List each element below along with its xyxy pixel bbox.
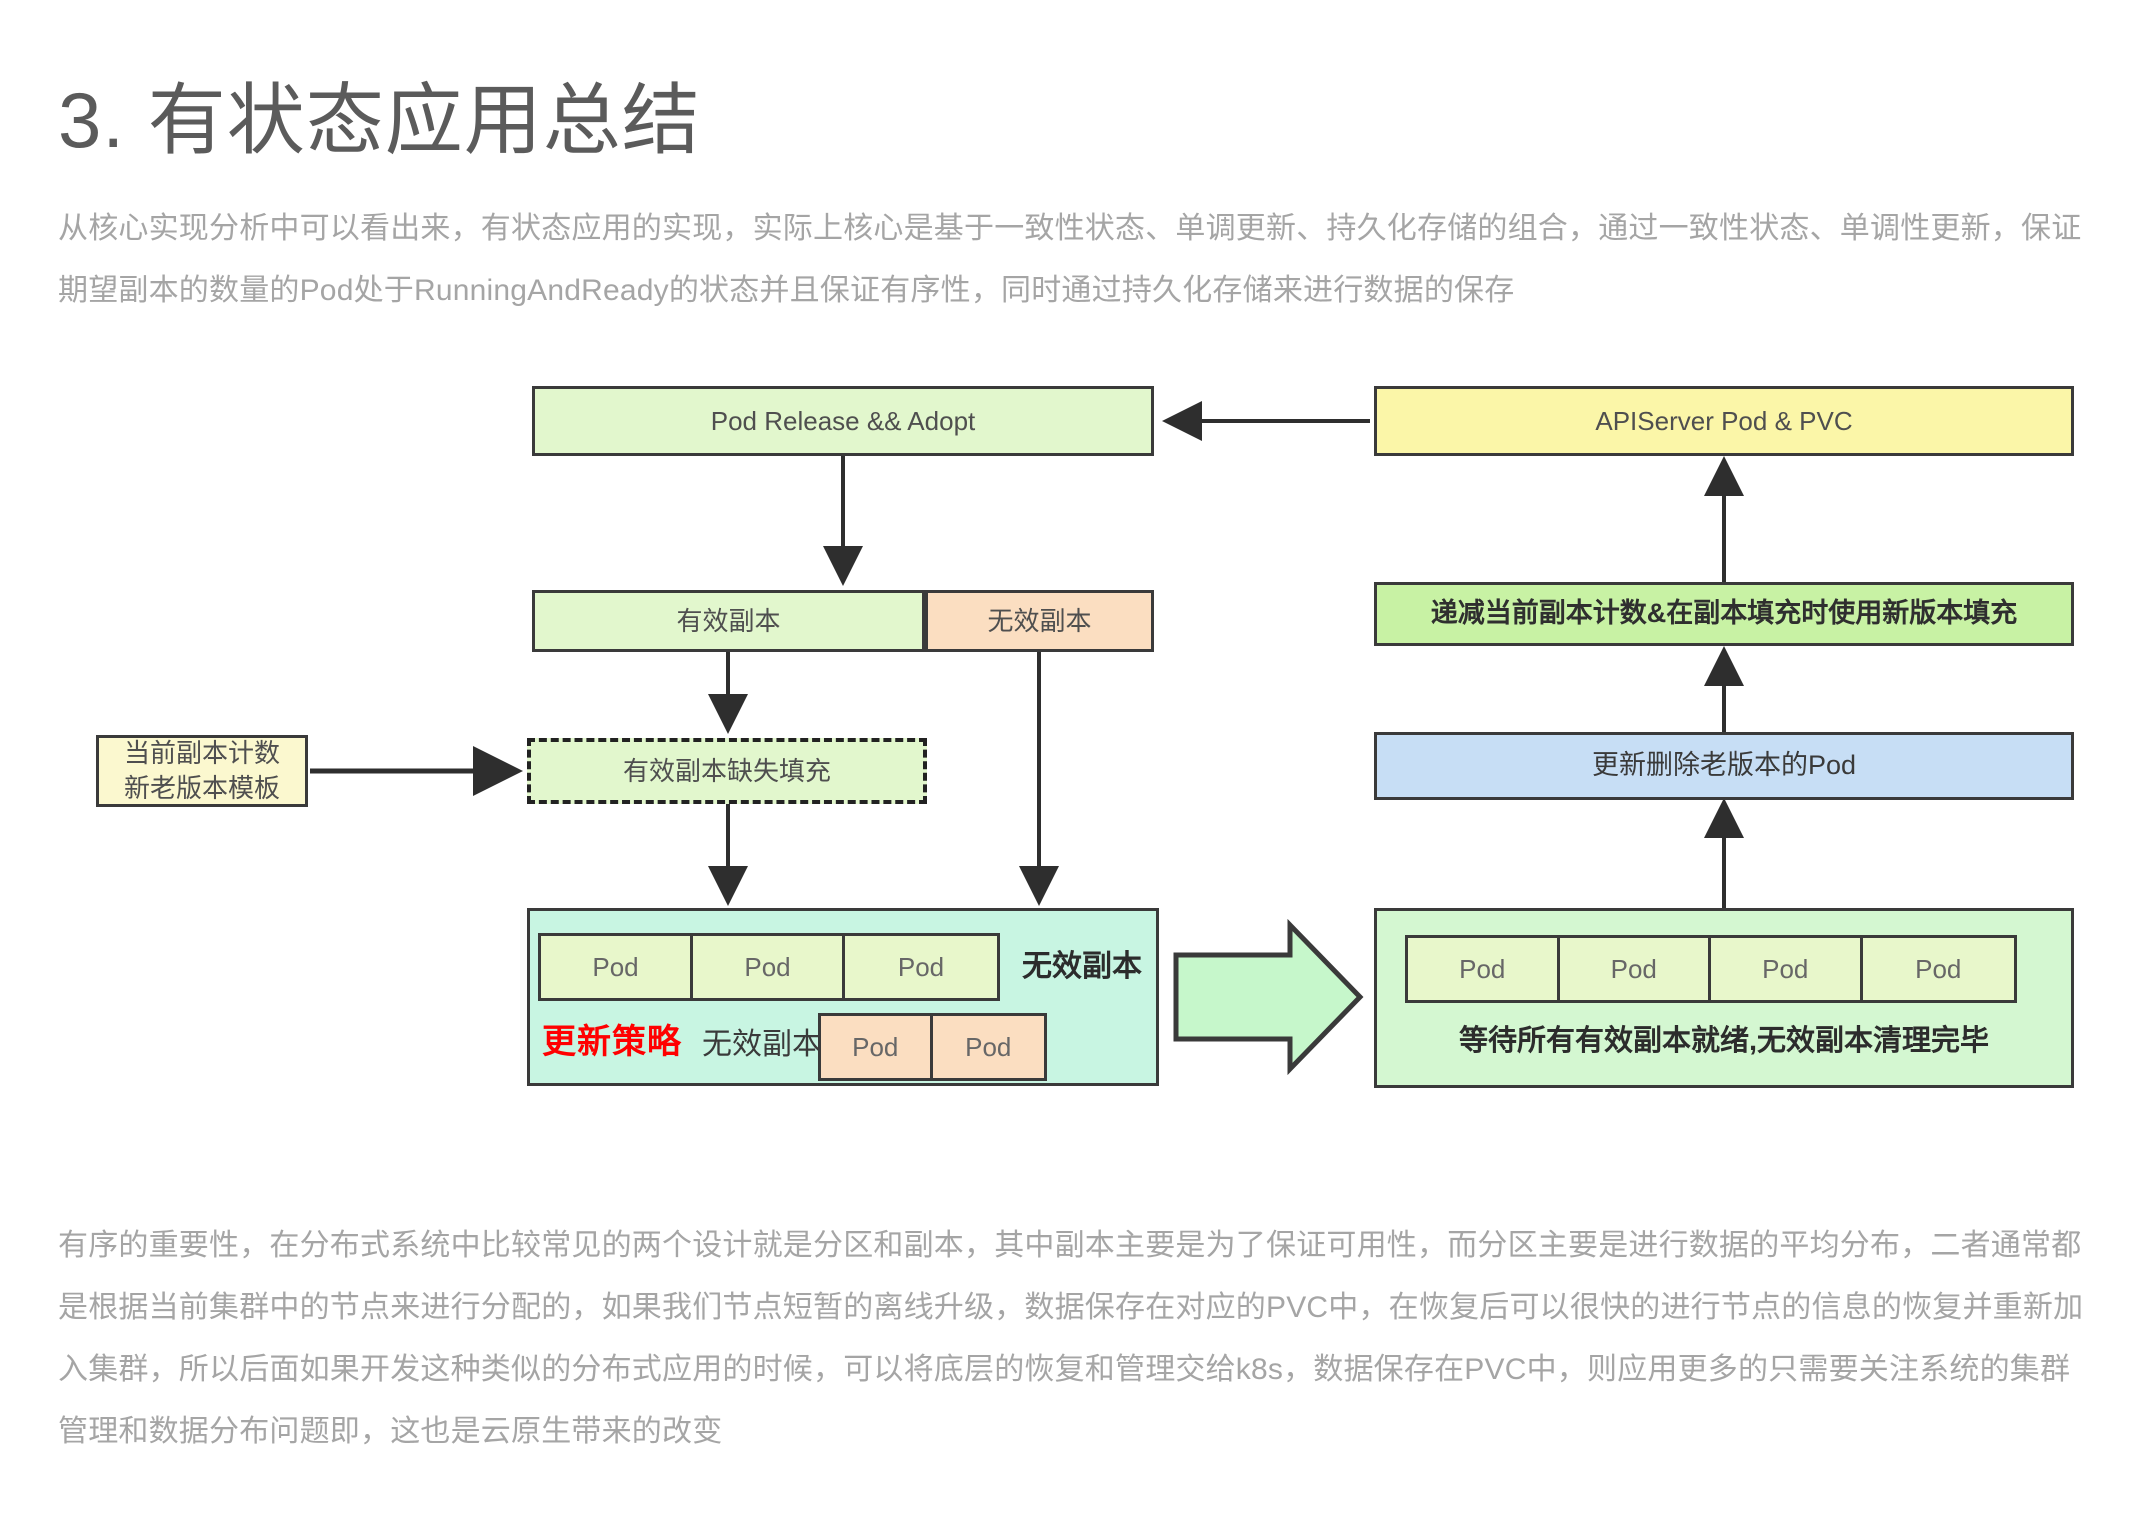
pod-cell[interactable]: Pod <box>1560 938 1712 1000</box>
label-wait-caption: 等待所有有效副本就绪,无效副本清理完毕 <box>1377 1023 2071 1059</box>
right-pod-strip: Pod Pod Pod Pod <box>1405 935 2017 1003</box>
label-invalid-replica-bottom: 无效副本 <box>702 1026 822 1064</box>
pod-cell[interactable]: Pod <box>1408 938 1560 1000</box>
node-invalid-replica[interactable]: 无效副本 <box>925 590 1154 652</box>
node-current-counter[interactable]: 当前副本计数 新老版本模板 <box>96 735 308 807</box>
left-valid-pod-strip: Pod Pod Pod <box>538 933 1000 1001</box>
node-apiserver-pod-pvc[interactable]: APIServer Pod & PVC <box>1374 386 2074 456</box>
node-decrease-counter[interactable]: 递减当前副本计数&在副本填充时使用新版本填充 <box>1374 582 2074 646</box>
page-title: 3. 有状态应用总结 <box>58 74 701 166</box>
pod-cell[interactable]: Pod <box>821 1016 933 1078</box>
node-update-delete-old-pod[interactable]: 更新删除老版本的Pod <box>1374 732 2074 800</box>
document-page: 3. 有状态应用总结 从核心实现分析中可以看出来，有状态应用的实现，实际上核心是… <box>0 0 2143 1522</box>
outro-paragraph: 有序的重要性，在分布式系统中比较常见的两个设计就是分区和副本，其中副本主要是为了… <box>58 1215 2093 1463</box>
label-update-strategy: 更新策略 <box>542 1021 682 1064</box>
node-current-counter-line1: 当前副本计数 <box>124 736 280 771</box>
node-valid-replica[interactable]: 有效副本 <box>532 590 925 652</box>
node-valid-replica-fill-gap[interactable]: 有效副本缺失填充 <box>527 738 927 804</box>
node-current-counter-line2: 新老版本模板 <box>124 771 280 806</box>
node-left-replica-group[interactable]: Pod Pod Pod 无效副本 更新策略 无效副本 Pod Pod <box>527 908 1159 1086</box>
pod-cell[interactable]: Pod <box>693 936 845 998</box>
pod-cell[interactable]: Pod <box>845 936 997 998</box>
intro-paragraph: 从核心实现分析中可以看出来，有状态应用的实现，实际上核心是基于一致性状态、单调更… <box>58 198 2088 322</box>
pod-cell[interactable]: Pod <box>541 936 693 998</box>
pod-cell[interactable]: Pod <box>1711 938 1863 1000</box>
node-pod-release-adopt[interactable]: Pod Release && Adopt <box>532 386 1154 456</box>
left-invalid-pod-strip: Pod Pod <box>818 1013 1047 1081</box>
pod-cell[interactable]: Pod <box>1863 938 2015 1000</box>
label-invalid-replica-right: 无效副本 <box>1012 933 1152 1001</box>
node-right-replica-group[interactable]: Pod Pod Pod Pod 等待所有有效副本就绪,无效副本清理完毕 <box>1374 908 2074 1088</box>
statefulset-flow-diagram: Pod Release && Adopt APIServer Pod & PVC… <box>0 360 2143 1150</box>
pod-cell[interactable]: Pod <box>933 1016 1044 1078</box>
